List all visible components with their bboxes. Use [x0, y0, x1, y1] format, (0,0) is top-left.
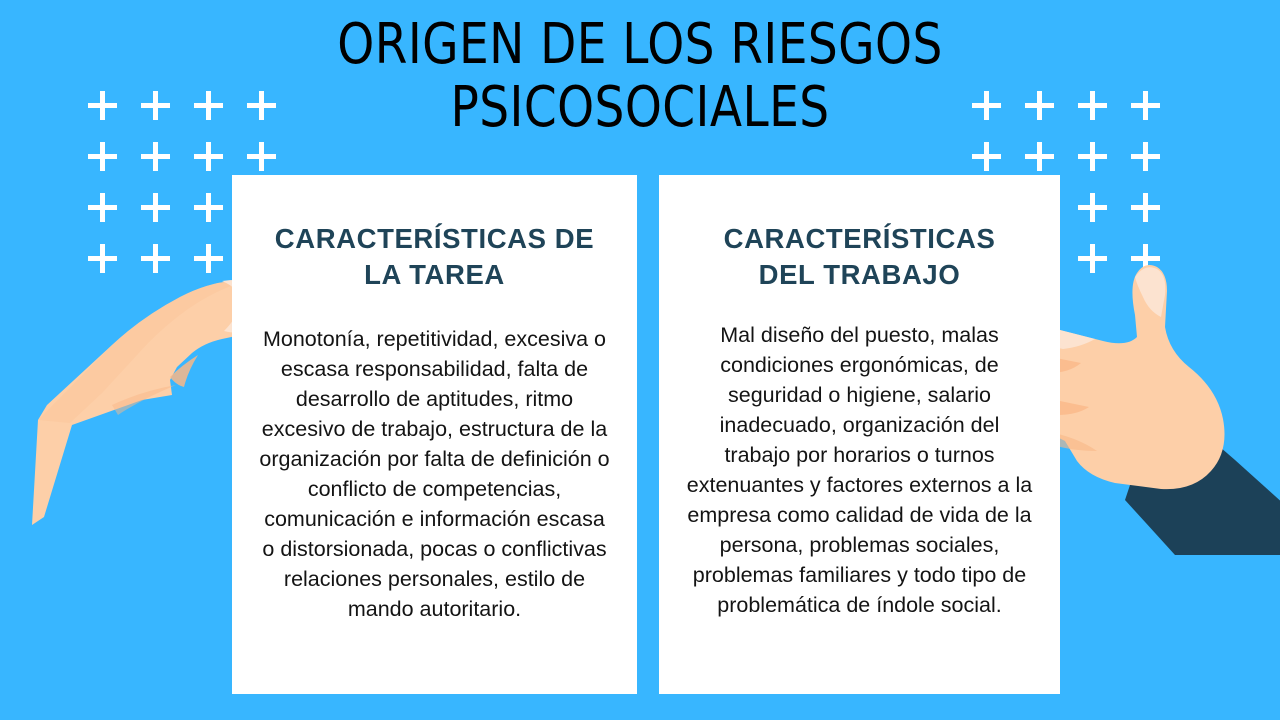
card-body-text: Mal diseño del puesto, malas condiciones…	[685, 320, 1034, 621]
card-body-text: Monotonía, repetitividad, excesiva o esc…	[258, 324, 611, 625]
plus-icon	[1068, 184, 1121, 235]
plus-icon	[1121, 133, 1174, 184]
plus-icon	[1068, 133, 1121, 184]
plus-icon	[184, 133, 237, 184]
card-caracteristicas-del-trabajo: CARACTERÍSTICAS DEL TRABAJO Mal diseño d…	[659, 175, 1060, 694]
card-caracteristicas-de-la-tarea: CARACTERÍSTICAS DE LA TAREA Monotonía, r…	[232, 175, 637, 694]
plus-icon	[78, 133, 131, 184]
page-title: ORIGEN DE LOS RIESGOS PSICOSOCIALES	[102, 14, 1177, 139]
plus-icon	[1121, 184, 1174, 235]
card-heading: CARACTERÍSTICAS DE LA TAREA	[258, 221, 611, 294]
plus-icon	[131, 133, 184, 184]
card-heading: CARACTERÍSTICAS DEL TRABAJO	[685, 221, 1034, 294]
slide-canvas: ORIGEN DE LOS RIESGOS PSICOSOCIALES CARA…	[0, 0, 1280, 720]
